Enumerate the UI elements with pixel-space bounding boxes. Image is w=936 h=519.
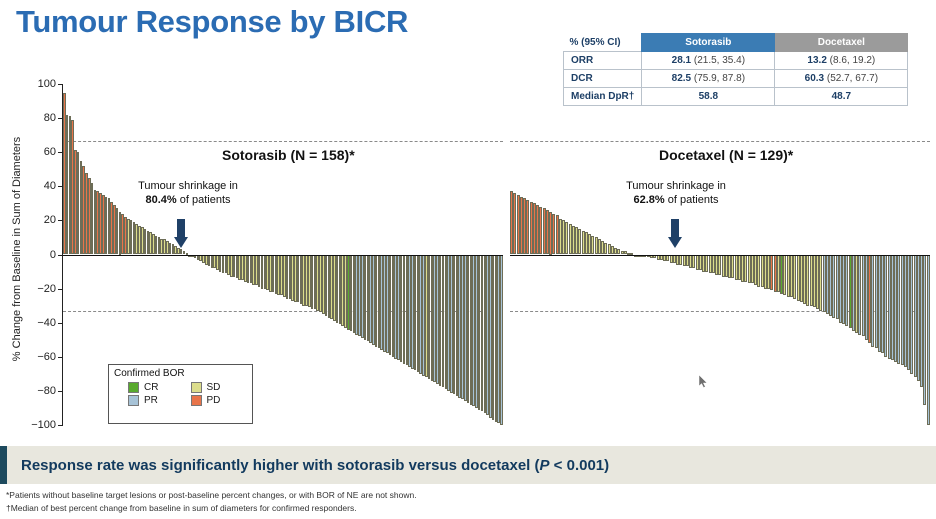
arrow-head	[174, 237, 188, 248]
legend-item-pr: PR	[128, 395, 185, 406]
panel-title-docetaxel: Docetaxel (N = 129)*	[659, 147, 793, 163]
legend-swatch-sd	[191, 382, 202, 393]
y-tick-label-60: 60	[22, 146, 56, 158]
y-tick-label--80: −80	[22, 385, 56, 397]
annotation-sotorasib-value: 80.4%	[145, 194, 176, 206]
table-row-label-0: ORR	[564, 52, 642, 70]
footnote-2: †Median of best percent change from base…	[6, 502, 926, 515]
banner-text: Response rate was significantly higher w…	[21, 457, 609, 474]
annotation-docetaxel-line1: Tumour shrinkage in	[626, 180, 726, 192]
legend: Confirmed BOR CRSDPRPD	[108, 364, 253, 424]
zero-line-sotorasib	[63, 255, 503, 256]
arrow-shaft	[671, 219, 679, 237]
arrow-sotorasib	[174, 219, 188, 248]
legend-item-pd: PD	[191, 395, 248, 406]
annotation-docetaxel: Tumour shrinkage in 62.8% of patients	[606, 180, 746, 208]
table-cell-docetaxel-0: 13.2 (8.6, 19.2)	[775, 52, 908, 70]
legend-label-sd: SD	[207, 382, 221, 393]
panel-docetaxel	[510, 84, 930, 425]
bar-sotorasib-157	[500, 255, 503, 426]
table-header-docetaxel: Docetaxel	[775, 34, 908, 52]
banner-p-italic: P	[540, 457, 550, 474]
annotation-docetaxel-value: 62.8%	[633, 194, 664, 206]
legend-label-cr: CR	[144, 382, 158, 393]
banner-accent-bar	[0, 446, 7, 484]
summary-banner: Response rate was significantly higher w…	[0, 446, 936, 484]
annotation-sotorasib: Tumour shrinkage in 80.4% of patients	[118, 180, 258, 208]
zero-line-docetaxel	[510, 255, 930, 256]
legend-swatch-cr	[128, 382, 139, 393]
arrow-head	[668, 237, 682, 248]
table-corner-label: % (95% CI)	[564, 34, 642, 52]
legend-title: Confirmed BOR	[114, 368, 247, 379]
legend-swatch-pd	[191, 395, 202, 406]
y-tick-label--60: −60	[22, 351, 56, 363]
y-tick-label-80: 80	[22, 112, 56, 124]
y-tick-label-40: 40	[22, 180, 56, 192]
arrow-shaft	[177, 219, 185, 237]
footnotes: *Patients without baseline target lesion…	[6, 489, 926, 515]
legend-label-pr: PR	[144, 395, 158, 406]
y-tick-label--40: −40	[22, 317, 56, 329]
bar-docetaxel-128	[927, 255, 930, 426]
annotation-sotorasib-line1: Tumour shrinkage in	[138, 180, 238, 192]
y-tick-label-20: 20	[22, 214, 56, 226]
annotation-sotorasib-line2: of patients	[180, 194, 231, 206]
legend-swatch-pr	[128, 395, 139, 406]
y-tick-mark--100	[58, 425, 63, 426]
y-tick-label--20: −20	[22, 283, 56, 295]
legend-item-sd: SD	[191, 382, 248, 393]
banner-text-before: Response rate was significantly higher w…	[21, 457, 540, 474]
mouse-cursor	[699, 375, 708, 388]
legend-label-pd: PD	[207, 395, 221, 406]
legend-entries: CRSDPRPD	[114, 382, 247, 406]
table-header-sotorasib: Sotorasib	[642, 34, 775, 52]
y-tick-label-0: 0	[22, 249, 56, 261]
table-header-row: % (95% CI) Sotorasib Docetaxel	[564, 34, 908, 52]
footnote-1: *Patients without baseline target lesion…	[6, 489, 926, 502]
y-tick-label-100: 100	[22, 78, 56, 90]
page-title: Tumour Response by BICR	[16, 4, 408, 40]
table-cell-sotorasib-0: 28.1 (21.5, 35.4)	[642, 52, 775, 70]
banner-text-after: < 0.001)	[550, 457, 610, 474]
panel-title-sotorasib: Sotorasib (N = 158)*	[222, 147, 355, 163]
arrow-docetaxel	[668, 219, 682, 248]
table-row: ORR28.1 (21.5, 35.4)13.2 (8.6, 19.2)	[564, 52, 908, 70]
y-tick-label--100: −100	[22, 419, 56, 431]
legend-item-cr: CR	[128, 382, 185, 393]
annotation-docetaxel-line2: of patients	[668, 194, 719, 206]
